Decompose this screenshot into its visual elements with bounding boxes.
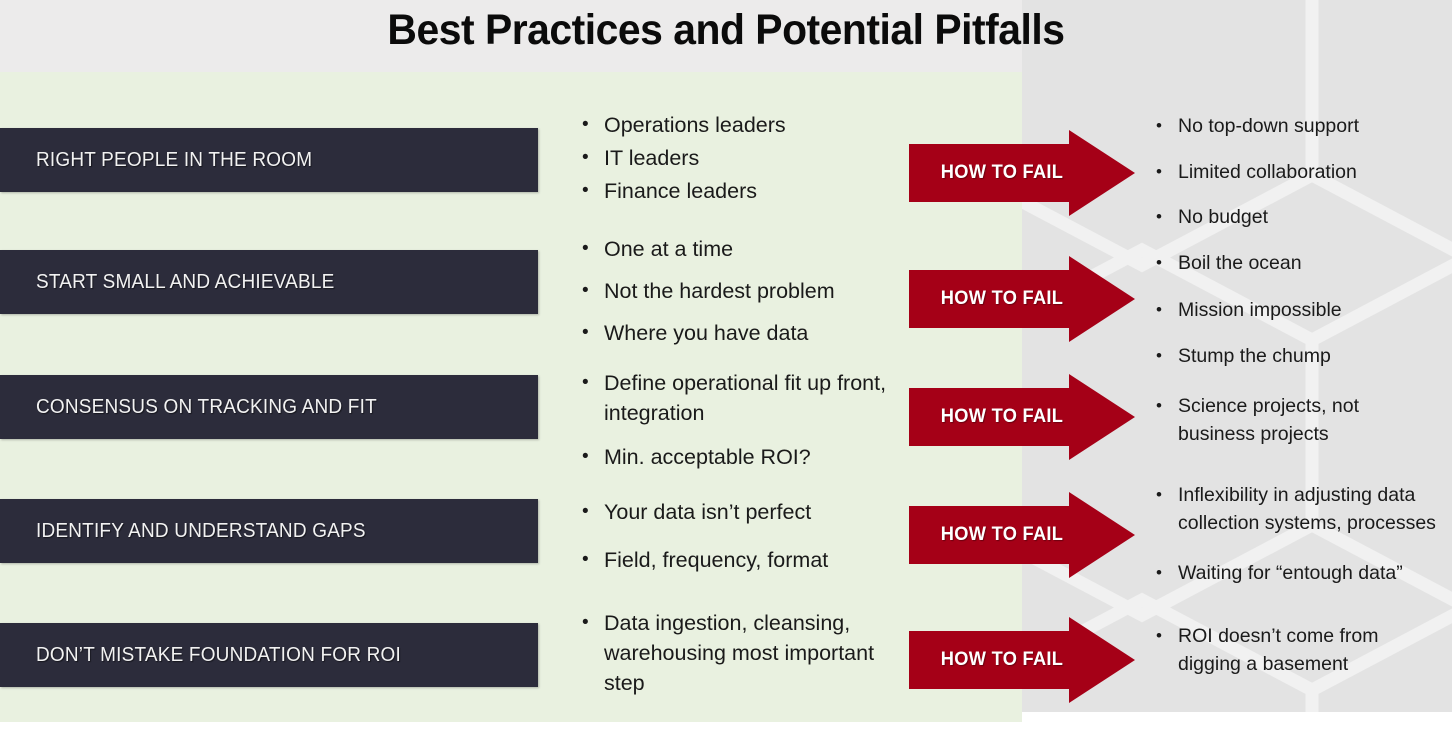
bullet-icon: • <box>1152 622 1178 650</box>
list-item: • No top-down support <box>1152 112 1448 140</box>
pitfall-bullet-list: • No top-down support • Limited collabor… <box>1152 112 1448 370</box>
list-item: • Not the hardest problem <box>578 276 908 306</box>
list-item: • ROI doesn’t come from digging a baseme… <box>1152 622 1414 678</box>
bullet-text: Waiting for “entough data” <box>1178 559 1403 587</box>
practice-box-start-small[interactable]: START SMALL AND ACHIEVABLE <box>0 250 538 314</box>
bullet-text: Define operational fit up front, integra… <box>604 368 896 428</box>
list-item: • Limited collaboration <box>1152 158 1448 186</box>
bullet-icon: • <box>1152 481 1178 509</box>
bullet-icon: • <box>1152 342 1178 370</box>
bullet-text: Field, frequency, format <box>604 545 828 575</box>
practice-box-right-people[interactable]: RIGHT PEOPLE IN THE ROOM <box>0 128 538 192</box>
bullet-icon: • <box>578 318 604 348</box>
list-item: • Boil the ocean <box>1152 249 1448 277</box>
list-item: • Field, frequency, format <box>578 545 908 575</box>
bullet-icon: • <box>578 276 604 306</box>
best-practice-bullet-list: • Operations leaders • IT leaders • Fina… <box>578 110 908 206</box>
practice-label: IDENTIFY AND UNDERSTAND GAPS <box>36 520 366 543</box>
practice-label: CONSENSUS ON TRACKING AND FIT <box>36 396 377 419</box>
list-item: • Waiting for “entough data” <box>1152 559 1442 587</box>
list-item: • One at a time <box>578 234 908 264</box>
list-item: • Inflexibility in adjusting data collec… <box>1152 481 1442 537</box>
arrow-label: HOW TO FAIL <box>930 256 1074 342</box>
bullet-icon: • <box>578 368 604 398</box>
bullet-icon: • <box>1152 203 1178 231</box>
best-practice-bullet-list: • Define operational fit up front, integ… <box>578 368 896 472</box>
arrow-label: HOW TO FAIL <box>930 130 1074 216</box>
bullet-icon: • <box>578 545 604 575</box>
list-item: • Where you have data <box>578 318 908 348</box>
bullet-icon: • <box>1152 249 1178 277</box>
bullet-text: Where you have data <box>604 318 808 348</box>
how-to-fail-arrow-1[interactable]: HOW TO FAIL <box>909 130 1135 216</box>
list-item: • Mission impossible <box>1152 296 1448 324</box>
bullet-text: Min. acceptable ROI? <box>604 442 811 472</box>
arrow-label: HOW TO FAIL <box>930 492 1074 578</box>
bullet-text: Finance leaders <box>604 176 757 206</box>
bullet-text: Data ingestion, cleansing, warehousing m… <box>604 608 898 698</box>
bullet-icon: • <box>1152 392 1178 420</box>
bullet-icon: • <box>578 143 604 173</box>
list-item: • Stump the chump <box>1152 342 1448 370</box>
how-to-fail-arrow-5[interactable]: HOW TO FAIL <box>909 617 1135 703</box>
list-item: • Data ingestion, cleansing, warehousing… <box>578 608 898 698</box>
bullet-text: Stump the chump <box>1178 342 1331 370</box>
list-item: • Your data isn’t perfect <box>578 497 908 527</box>
arrow-label: HOW TO FAIL <box>930 374 1074 460</box>
list-item: • Finance leaders <box>578 176 908 206</box>
bullet-text: Your data isn’t perfect <box>604 497 811 527</box>
list-item: • IT leaders <box>578 143 908 173</box>
list-item: • No budget <box>1152 203 1448 231</box>
bullet-text: Mission impossible <box>1178 296 1342 324</box>
bullet-text: Inflexibility in adjusting data collecti… <box>1178 481 1442 537</box>
page-title: Best Practices and Potential Pitfalls <box>36 6 1415 55</box>
bullet-icon: • <box>578 176 604 206</box>
list-item: • Operations leaders <box>578 110 908 140</box>
practice-box-identify-gaps[interactable]: IDENTIFY AND UNDERSTAND GAPS <box>0 499 538 563</box>
how-to-fail-arrow-3[interactable]: HOW TO FAIL <box>909 374 1135 460</box>
bullet-text: IT leaders <box>604 143 699 173</box>
bullet-text: No budget <box>1178 203 1268 231</box>
practice-label: START SMALL AND ACHIEVABLE <box>36 271 335 294</box>
bullet-icon: • <box>578 608 604 638</box>
best-practice-bullet-list: • Data ingestion, cleansing, warehousing… <box>578 608 898 698</box>
bullet-icon: • <box>1152 296 1178 324</box>
list-item: • Science projects, not business project… <box>1152 392 1402 448</box>
practice-label: DON’T MISTAKE FOUNDATION FOR ROI <box>36 644 401 667</box>
pitfall-bullet-list: • Science projects, not business project… <box>1152 392 1402 448</box>
practice-label: RIGHT PEOPLE IN THE ROOM <box>36 149 312 172</box>
bullet-icon: • <box>578 110 604 140</box>
bullet-text: Operations leaders <box>604 110 786 140</box>
bullet-text: One at a time <box>604 234 733 264</box>
bullet-text: Limited collaboration <box>1178 158 1357 186</box>
bullet-icon: • <box>578 497 604 527</box>
bullet-icon: • <box>1152 559 1178 587</box>
how-to-fail-arrow-4[interactable]: HOW TO FAIL <box>909 492 1135 578</box>
how-to-fail-arrow-2[interactable]: HOW TO FAIL <box>909 256 1135 342</box>
practice-box-foundation-roi[interactable]: DON’T MISTAKE FOUNDATION FOR ROI <box>0 623 538 687</box>
bullet-icon: • <box>1152 158 1178 186</box>
best-practice-bullet-list: • One at a time • Not the hardest proble… <box>578 234 908 348</box>
list-item: • Min. acceptable ROI? <box>578 442 896 472</box>
list-item: • Define operational fit up front, integ… <box>578 368 896 428</box>
slide-canvas: Best Practices and Potential Pitfalls RI… <box>0 0 1452 750</box>
arrow-label: HOW TO FAIL <box>930 617 1074 703</box>
bullet-text: ROI doesn’t come from digging a basement <box>1178 622 1414 678</box>
bullet-icon: • <box>578 234 604 264</box>
pitfall-bullet-list: • Inflexibility in adjusting data collec… <box>1152 481 1442 587</box>
bullet-text: Not the hardest problem <box>604 276 835 306</box>
bullet-text: Boil the ocean <box>1178 249 1302 277</box>
bullet-text: Science projects, not business projects <box>1178 392 1402 448</box>
pitfall-bullet-list: • ROI doesn’t come from digging a baseme… <box>1152 622 1414 678</box>
practice-box-consensus[interactable]: CONSENSUS ON TRACKING AND FIT <box>0 375 538 439</box>
bullet-icon: • <box>578 442 604 472</box>
bullet-text: No top-down support <box>1178 112 1359 140</box>
best-practice-bullet-list: • Your data isn’t perfect • Field, frequ… <box>578 497 908 575</box>
bullet-icon: • <box>1152 112 1178 140</box>
